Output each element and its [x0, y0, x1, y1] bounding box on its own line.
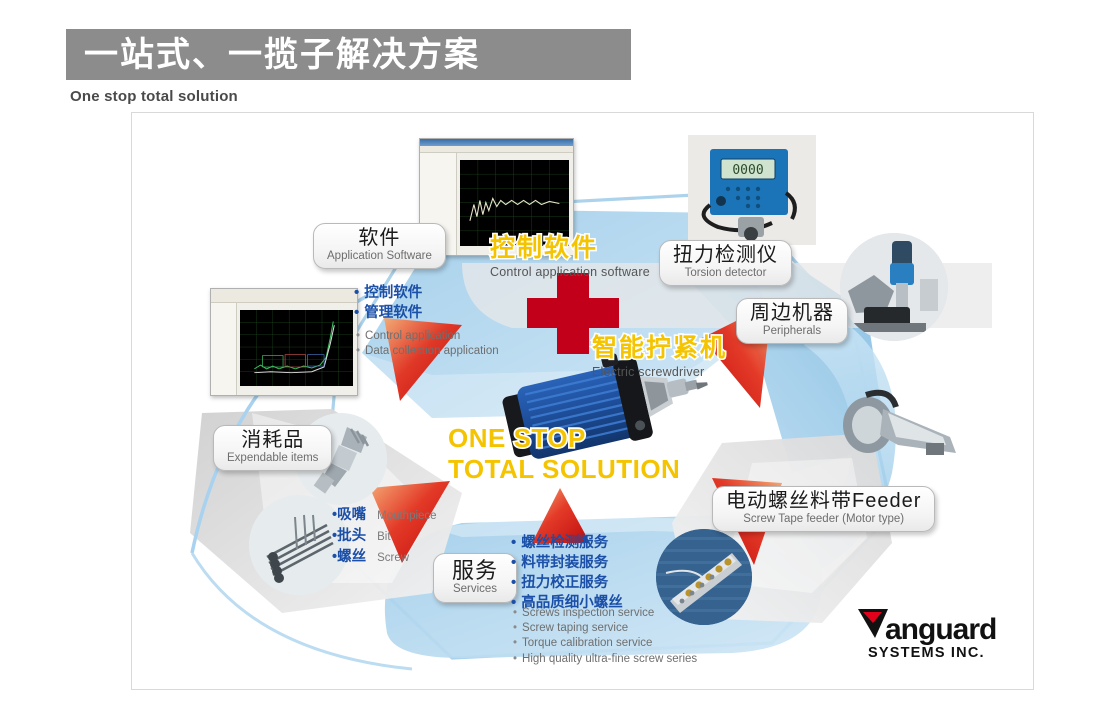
control-software-headline-cn: 控制软件 — [490, 235, 650, 263]
services-bullets-cn: 螺丝检测服务 料带封装服务 扭力校正服务 高品质细小螺丝 — [511, 533, 623, 614]
expendables-pair-0-en: Mouthpiece — [377, 510, 436, 522]
one-stop-slogan: ONE STOP TOTAL SOLUTION — [448, 423, 680, 484]
list-item: 螺丝检测服务 — [511, 533, 623, 553]
list-item: Screw taping service — [513, 621, 697, 636]
pill-feeder-en: Screw Tape feeder (Motor type) — [726, 513, 921, 526]
electric-screwdriver-headline: 智能拧紧机 Electric screwdriver — [592, 335, 727, 379]
control-software-headline: 控制软件 Control application software — [490, 235, 650, 279]
list-item: •吸嘴 Mouthpiece — [332, 503, 437, 524]
expendables-pair-1-cn: 批头 — [337, 528, 366, 544]
expendables-pair-0-cn: 吸嘴 — [337, 507, 366, 523]
pill-feeder-cn: 电动螺丝料带Feeder — [726, 490, 921, 514]
pill-torsion-detector-en: Torsion detector — [673, 267, 778, 280]
expendables-pair-1-en: Bit — [377, 531, 390, 543]
vanguard-logo-subtitle: SYSTEMS INC. — [868, 646, 1018, 661]
data-collection-software-screenshot — [210, 288, 358, 396]
pill-services-en: Services — [452, 583, 498, 596]
page-title: 一站式、一揽子解决方案 — [66, 38, 480, 72]
pill-expendables-cn: 消耗品 — [227, 429, 318, 453]
list-item: Control application — [356, 329, 499, 344]
pill-services[interactable]: 服务 Services — [433, 553, 517, 603]
list-item: •螺丝 Screw — [332, 545, 437, 566]
torsion-detector-photo: 0000 — [688, 135, 816, 245]
pill-software-cn: 软件 — [327, 227, 432, 251]
vanguard-v-icon — [858, 607, 888, 639]
services-bullets-en: Screws inspection service Screw taping s… — [513, 606, 697, 667]
screw-tape-feeder-photo — [838, 373, 968, 473]
expendables-pair-2-en: Screw — [377, 552, 409, 564]
list-item: 控制软件 — [354, 283, 422, 303]
pill-torsion-detector[interactable]: 扭力检测仪 Torsion detector — [659, 240, 792, 286]
slogan-line-2: TOTAL SOLUTION — [448, 454, 680, 485]
list-item: 扭力校正服务 — [511, 573, 623, 593]
list-item: High quality ultra-fine screw series — [513, 652, 697, 667]
page-subtitle: One stop total solution — [70, 88, 238, 105]
list-item: Torque calibration service — [513, 636, 697, 651]
software-bullets-cn: 控制软件 管理软件 — [354, 283, 422, 323]
vanguard-logo: anguard SYSTEMS INC. — [858, 607, 1018, 660]
pill-peripherals-cn: 周边机器 — [750, 302, 834, 326]
pill-services-cn: 服务 — [452, 558, 498, 584]
expendables-pair-2-cn: 螺丝 — [337, 549, 366, 565]
peripherals-photo — [840, 233, 948, 341]
list-item: Screws inspection service — [513, 606, 697, 621]
list-item: Data collection application — [356, 344, 499, 359]
electric-screwdriver-headline-en: Electric screwdriver — [592, 365, 727, 379]
svg-text:0000: 0000 — [732, 163, 763, 178]
slogan-line-1: ONE STOP — [448, 423, 680, 454]
expendables-pairs: •吸嘴 Mouthpiece •批头 Bit •螺丝 Screw — [332, 503, 437, 566]
pill-feeder[interactable]: 电动螺丝料带Feeder Screw Tape feeder (Motor ty… — [712, 486, 935, 532]
header-banner: 一站式、一揽子解决方案 — [66, 29, 631, 80]
diagram-panel: 0000 — [131, 112, 1034, 690]
list-item: 管理软件 — [354, 303, 422, 323]
pill-expendables-en: Expendable items — [227, 452, 318, 465]
pill-peripherals[interactable]: 周边机器 Peripherals — [736, 298, 848, 344]
pill-software[interactable]: 软件 Application Software — [313, 223, 446, 269]
pill-peripherals-en: Peripherals — [750, 325, 834, 338]
vanguard-logo-name: anguard — [885, 616, 996, 645]
pill-expendables[interactable]: 消耗品 Expendable items — [213, 425, 332, 471]
list-item: 料带封装服务 — [511, 553, 623, 573]
control-software-headline-en: Control application software — [490, 265, 650, 279]
software-bullets-en: Control application Data collection appl… — [356, 329, 499, 359]
pill-software-en: Application Software — [327, 250, 432, 263]
pill-torsion-detector-cn: 扭力检测仪 — [673, 244, 778, 268]
electric-screwdriver-headline-cn: 智能拧紧机 — [592, 335, 727, 363]
list-item: •批头 Bit — [332, 524, 437, 545]
